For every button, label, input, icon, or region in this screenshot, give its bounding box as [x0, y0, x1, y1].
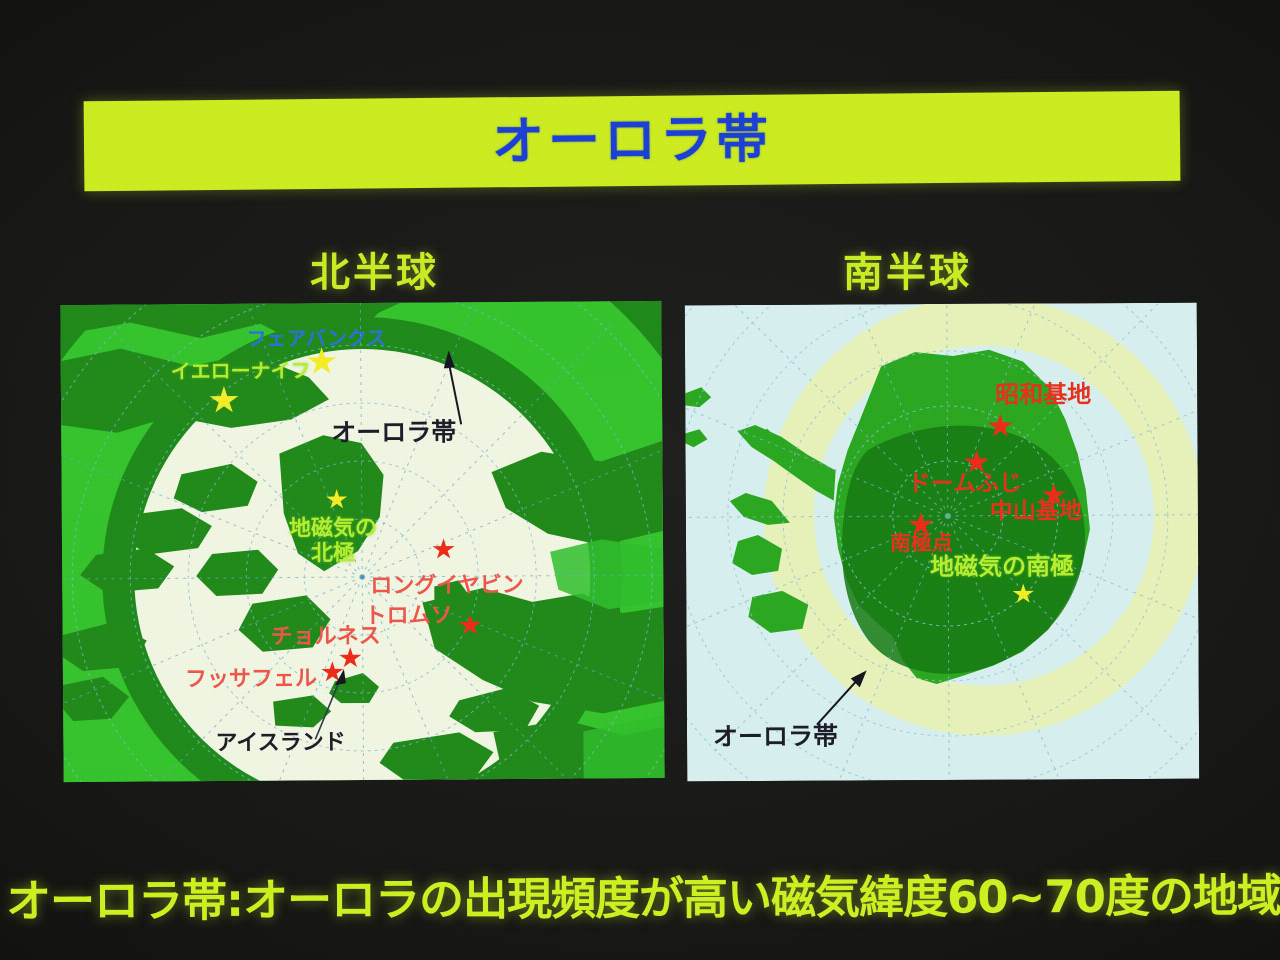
panel-title-north: 北半球 [310, 240, 439, 298]
slide-caption: オーロラ帯:オーロラの出現頻度が高い磁気緯度60~70度の地域 [6, 859, 1278, 930]
projected-slide: オーロラ帯 北半球 南半球 [0, 0, 1280, 960]
label-geomagnetic-south-pole: 地磁気の南極 [930, 553, 1074, 581]
label-iceland: アイスランド [215, 731, 345, 757]
page-title: オーロラ帯 [492, 114, 773, 169]
label-zhongshan-station: 中山基地 [990, 499, 1082, 525]
label-thorlakshofn: チョルネス [271, 625, 381, 650]
label-geomagnetic-north-pole-text: 地磁気の北極 [289, 516, 377, 566]
map-southern-hemisphere: 昭和基地 ドームふじ 中山基地 南極点 地磁気の南極 オーロラ帯 [685, 303, 1199, 782]
label-longyearbyen: ロングイヤビン [370, 574, 524, 600]
map-northern-hemisphere: フェアバンクス イエローナイフ 地磁気の北極 ロングイヤビン トロムソ チョルネ… [60, 301, 664, 782]
label-aurora-band-north: オーロラ帯 [331, 418, 456, 447]
label-fairbanks: フェアバンクス [247, 327, 387, 350]
label-geomagnetic-north-pole: 地磁気の北極 [288, 517, 378, 567]
label-showa-station: 昭和基地 [995, 381, 1091, 408]
panel-title-south: 南半球 [843, 240, 972, 298]
label-dome-fuji: ドームふじ [908, 472, 1022, 498]
label-aurora-band-south: オーロラ帯 [713, 723, 838, 752]
label-yellowknife: イエローナイフ [171, 359, 311, 382]
label-husafell: フッサフェル [185, 667, 317, 693]
slide-title-banner: オーロラ帯 [84, 91, 1181, 192]
